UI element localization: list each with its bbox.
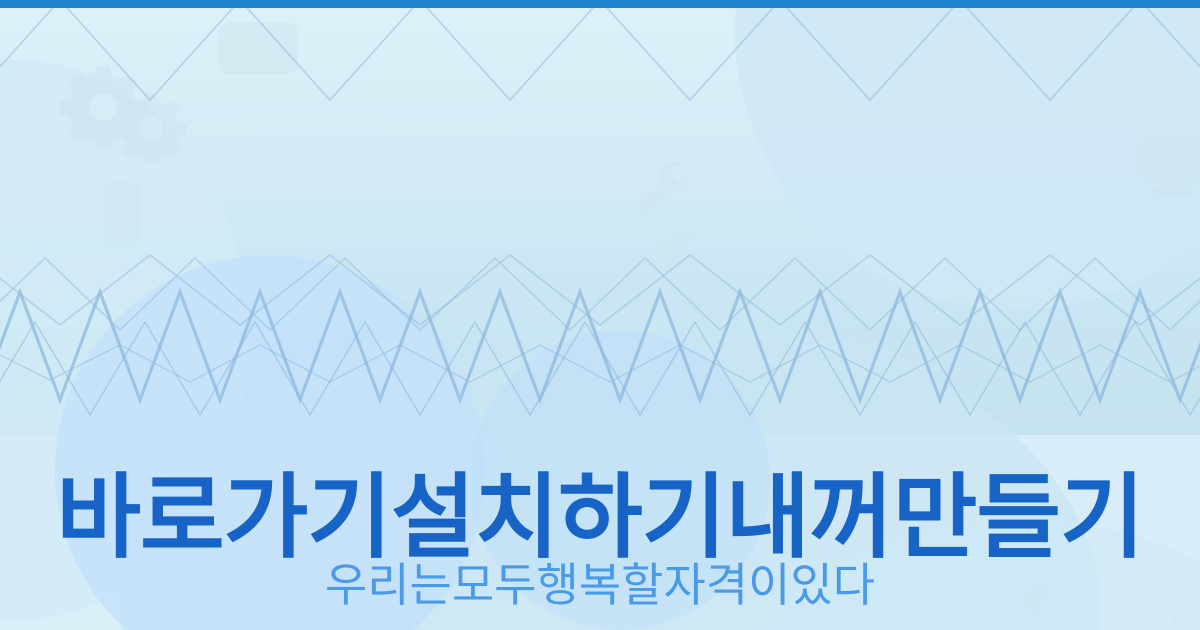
top-accent-bar	[0, 0, 1200, 8]
page-title: 바로가기설치하기내꺼만들기	[0, 472, 1200, 564]
text-block: 바로가기설치하기내꺼만들기 우리는모두행복할자격이있다	[0, 0, 1200, 630]
page-subtitle: 우리는모두행복할자격이있다	[0, 562, 1200, 608]
promo-banner: 바로가기설치하기내꺼만들기 우리는모두행복할자격이있다	[0, 0, 1200, 630]
